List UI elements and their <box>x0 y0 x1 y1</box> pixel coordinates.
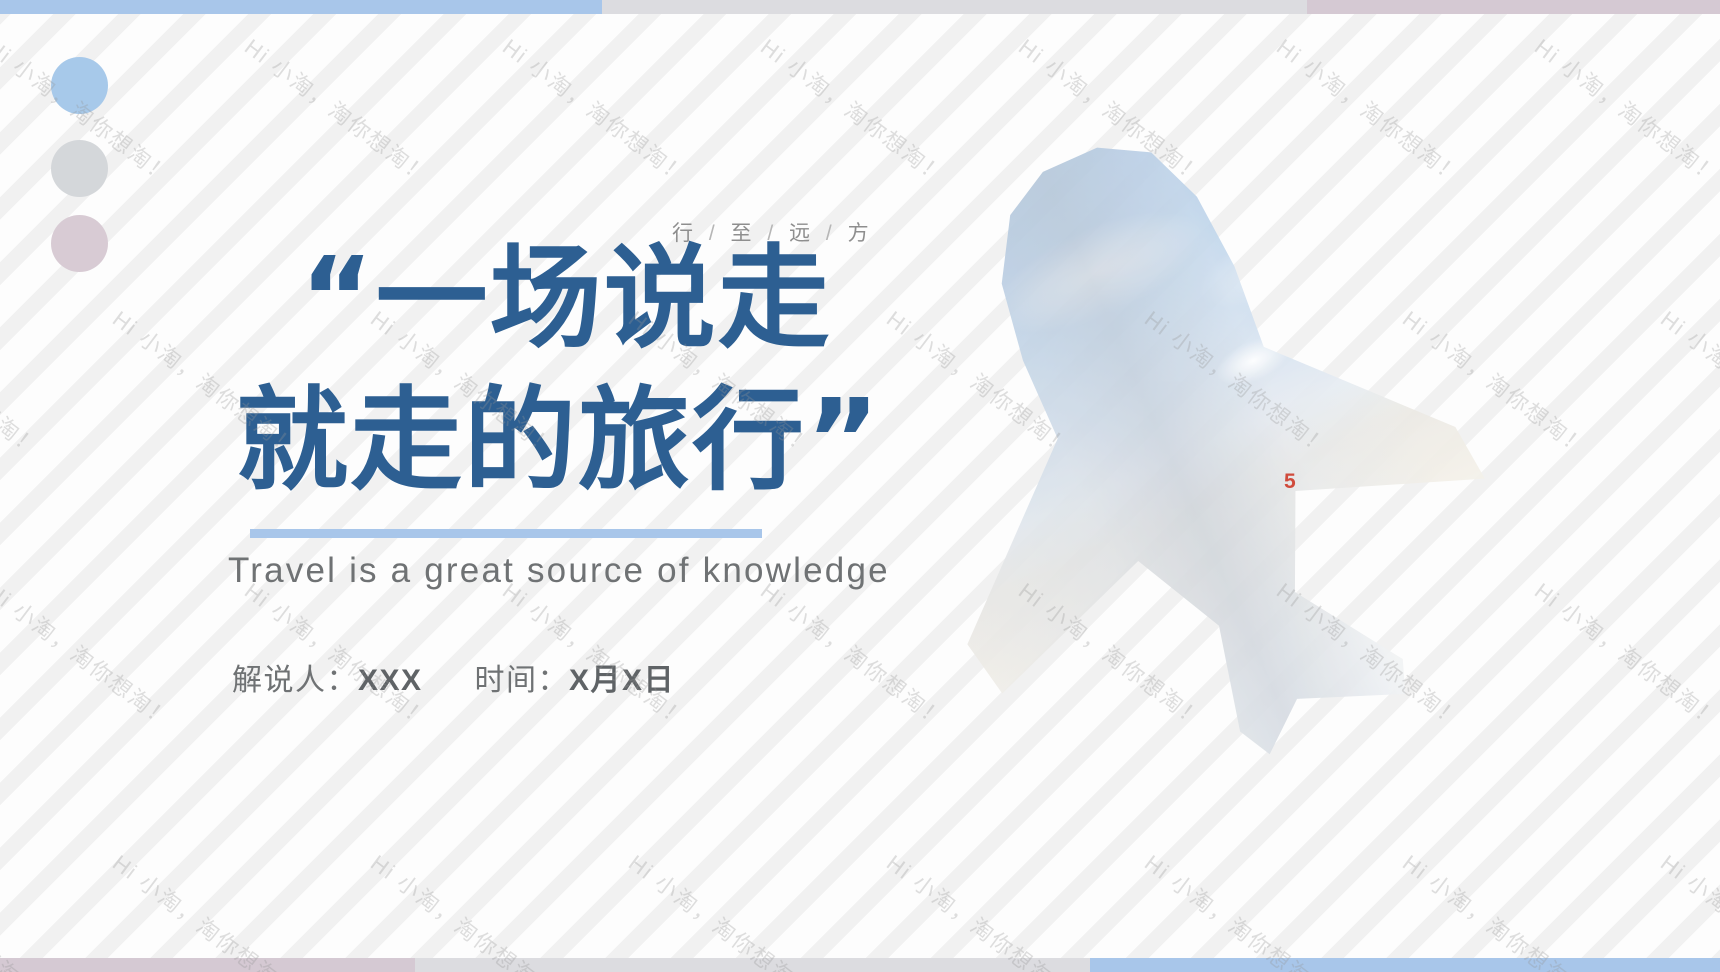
decor-dot-pink <box>51 215 108 272</box>
credits-line: 解说人：XXX时间：X月X日 <box>232 655 675 699</box>
airplane-artwork: 5 <box>880 150 1440 770</box>
subtitle-english: Travel is a great source of knowledge <box>228 551 890 591</box>
top-bar-segment-mauve <box>1307 0 1720 14</box>
presentation-slide: 5 行 / 至 / 远 / 方 “一场说走 就走的旅行” Travel is a… <box>0 0 1720 972</box>
title-line-1: “一场说走 <box>300 241 832 357</box>
title-line-2: 就走的旅行” <box>236 383 882 499</box>
bottom-bar-segment-mauve <box>0 958 415 972</box>
top-bar-segment-gray <box>602 0 1307 14</box>
speaker-value: XXX <box>358 664 423 697</box>
top-bar-segment-blue <box>0 0 602 14</box>
bottom-bar-segment-gray <box>415 958 1090 972</box>
bottom-bar-segment-blue <box>1090 958 1720 972</box>
decor-dot-gray <box>51 140 108 197</box>
date-value: X月X日 <box>569 664 675 697</box>
date-label: 时间： <box>475 664 570 697</box>
eyebrow-word-4: 方 <box>848 222 872 245</box>
decor-dot-blue <box>51 57 108 114</box>
title-underline-bar <box>250 529 762 538</box>
speaker-label: 解说人： <box>232 664 358 697</box>
lifeguard-tower-number: 5 <box>1284 470 1296 494</box>
